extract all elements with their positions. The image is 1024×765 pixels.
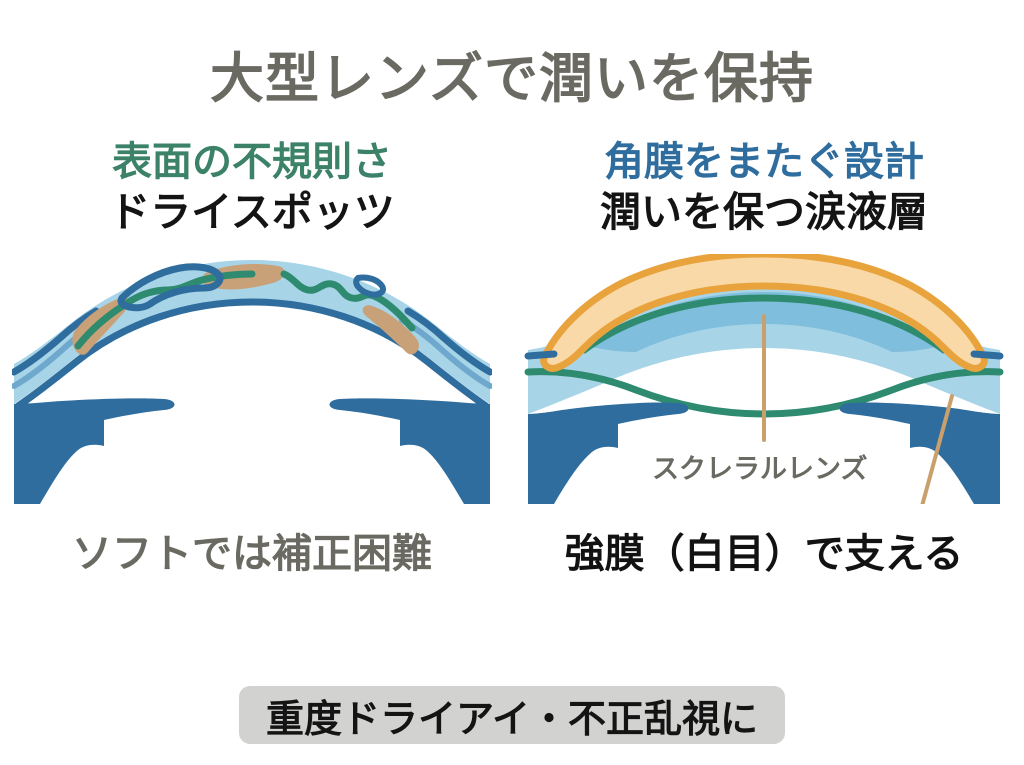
heading-accent-right: 角膜をまたぐ設計 [524, 140, 1004, 185]
column-soft-lens-problem: 表面の不規則さ ドライスポッツ [12, 140, 492, 640]
bottom-banner: 重度ドライアイ・不正乱視に [239, 686, 785, 744]
annotation-scleral-lens: スクレラルレンズ [652, 447, 867, 486]
figure-scleral-lens: スクレラルレンズ [524, 254, 1004, 504]
caption-left: ソフトでは補正困難 [12, 532, 492, 576]
heading-accent-left: 表面の不規則さ [12, 140, 492, 185]
heading-main-left: ドライスポッツ [12, 189, 492, 237]
sclera-rim-left [528, 354, 554, 356]
sclera-rim-right [974, 354, 1000, 356]
page-title: 大型レンズで潤いを保持 [0, 34, 1024, 113]
sclera-wedge-left [14, 399, 175, 505]
caption-right: 強膜（白目）で支える [524, 532, 1004, 576]
infographic-page: 大型レンズで潤いを保持 表面の不規則さ ドライスポッツ [0, 0, 1024, 765]
figure-irregular-cornea [12, 254, 492, 504]
banner-text: 重度ドライアイ・不正乱視に [266, 688, 758, 743]
sclera-wedge-right [330, 399, 491, 505]
heading-main-right: 潤いを保つ涙液層 [524, 189, 1004, 237]
column-scleral-lens-solution: 角膜をまたぐ設計 潤いを保つ涙液層 [524, 140, 1004, 640]
